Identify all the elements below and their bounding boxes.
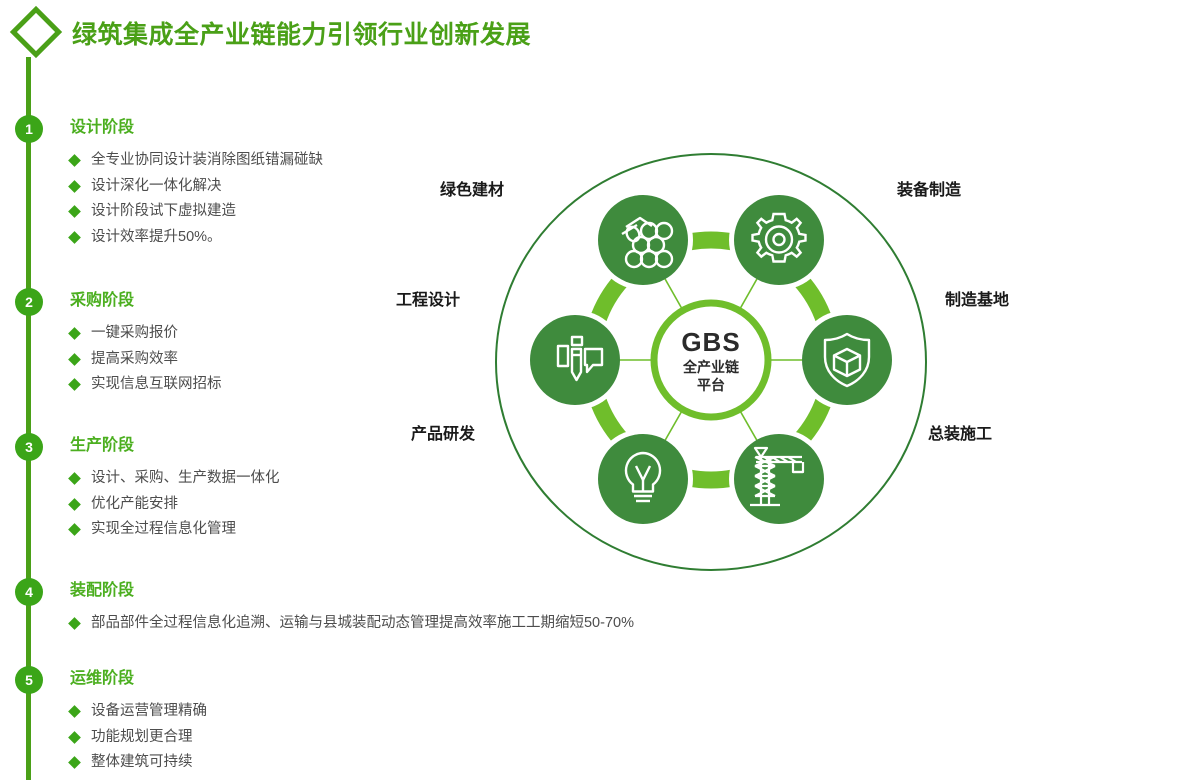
node-circle <box>734 434 824 524</box>
bullet-diamond-icon <box>68 705 81 718</box>
hub-node-manufacturing-base[interactable] <box>802 315 892 405</box>
step-items-2: 一键采购报价 提高采购效率 实现信息互联网招标 <box>70 325 222 393</box>
list-item: 整体建筑可持续 <box>70 754 207 771</box>
bullet-diamond-icon <box>68 205 81 218</box>
list-item-text: 设计效率提升50%。 <box>91 229 222 246</box>
list-item-text: 一键采购报价 <box>91 325 178 342</box>
list-item: 优化产能安排 <box>70 496 280 513</box>
list-item-text: 设计深化一体化解决 <box>91 178 222 195</box>
step-body-4: 装配阶段 部品部件全过程信息化追溯、运输与县城装配动态管理提高效率施工工期缩短5… <box>70 583 634 641</box>
step-items-5: 设备运营管理精确 功能规划更合理 整体建筑可持续 <box>70 703 207 771</box>
list-item-text: 全专业协同设计装消除图纸错漏碰缺 <box>91 152 323 169</box>
list-item: 设计效率提升50%。 <box>70 229 323 246</box>
bullet-diamond-icon <box>68 498 81 511</box>
center-subtitle-line2: 平台 <box>697 377 725 393</box>
list-item-text: 实现全过程信息化管理 <box>91 521 236 538</box>
list-item: 部品部件全过程信息化追溯、运输与县城装配动态管理提高效率施工工期缩短50-70% <box>70 615 634 632</box>
step-body-2: 采购阶段 一键采购报价 提高采购效率 实现信息互联网招标 <box>70 293 222 402</box>
list-item-text: 设计阶段试下虚拟建造 <box>91 203 236 220</box>
step-body-1: 设计阶段 全专业协同设计装消除图纸错漏碰缺 设计深化一体化解决 设计阶段试下虚拟… <box>70 120 323 255</box>
list-item-text: 设计、采购、生产数据一体化 <box>91 470 280 487</box>
list-item-text: 部品部件全过程信息化追溯、运输与县城装配动态管理提高效率施工工期缩短50-70% <box>91 615 634 632</box>
center-subtitle-line1: 全产业链 <box>682 359 740 375</box>
list-item: 提高采购效率 <box>70 351 222 368</box>
hub-diagram: 绿色建材 装备制造 工程设计 制造基地 产品研发 总装施工 <box>400 150 1040 580</box>
list-item: 设计、采购、生产数据一体化 <box>70 470 280 487</box>
bullet-diamond-icon <box>68 472 81 485</box>
step-title-3: 生产阶段 <box>70 438 280 454</box>
step-marker-2[interactable]: 2 <box>15 288 43 316</box>
step-body-5: 运维阶段 设备运营管理精确 功能规划更合理 整体建筑可持续 <box>70 671 207 780</box>
list-item-text: 设备运营管理精确 <box>91 703 207 720</box>
bullet-diamond-icon <box>68 523 81 536</box>
step-body-3: 生产阶段 设计、采购、生产数据一体化 优化产能安排 实现全过程信息化管理 <box>70 438 280 547</box>
bullet-diamond-icon <box>68 353 81 366</box>
node-circle <box>598 195 688 285</box>
bullet-diamond-icon <box>68 180 81 193</box>
list-item: 一键采购报价 <box>70 325 222 342</box>
bullet-diamond-icon <box>68 378 81 391</box>
hub-node-product-rnd[interactable] <box>598 434 688 524</box>
step-items-3: 设计、采购、生产数据一体化 优化产能安排 实现全过程信息化管理 <box>70 470 280 538</box>
list-item: 全专业协同设计装消除图纸错漏碰缺 <box>70 152 323 169</box>
list-item-text: 功能规划更合理 <box>91 729 193 746</box>
step-title-5: 运维阶段 <box>70 671 207 687</box>
page-title: 绿筑集成全产业链能力引领行业创新发展 <box>72 15 531 51</box>
hub-node-assembly-construction[interactable] <box>734 434 824 524</box>
bullet-diamond-icon <box>68 327 81 340</box>
bullet-diamond-icon <box>68 756 81 769</box>
list-item: 设备运营管理精确 <box>70 703 207 720</box>
list-item: 实现全过程信息化管理 <box>70 521 280 538</box>
step-title-2: 采购阶段 <box>70 293 222 309</box>
list-item-text: 实现信息互联网招标 <box>91 376 222 393</box>
step-marker-4[interactable]: 4 <box>15 578 43 606</box>
list-item: 实现信息互联网招标 <box>70 376 222 393</box>
hub-node-equipment-manufacturing[interactable] <box>734 195 824 285</box>
step-marker-3[interactable]: 3 <box>15 433 43 461</box>
node-circle <box>734 195 824 285</box>
step-title-1: 设计阶段 <box>70 120 323 136</box>
bullet-diamond-icon <box>68 154 81 167</box>
step-marker-1[interactable]: 1 <box>15 115 43 143</box>
list-item: 功能规划更合理 <box>70 729 207 746</box>
node-circle <box>802 315 892 405</box>
list-item-text: 提高采购效率 <box>91 351 178 368</box>
center-gbs-title: GBS <box>681 327 740 357</box>
bullet-diamond-icon <box>68 231 81 244</box>
step-items-4: 部品部件全过程信息化追溯、运输与县城装配动态管理提高效率施工工期缩短50-70% <box>70 615 634 632</box>
hub-node-engineering-design[interactable] <box>530 315 620 405</box>
bullet-diamond-icon <box>68 731 81 744</box>
step-title-4: 装配阶段 <box>70 583 634 599</box>
bullet-diamond-icon <box>68 617 81 630</box>
list-item-text: 整体建筑可持续 <box>91 754 193 771</box>
list-item: 设计深化一体化解决 <box>70 178 323 195</box>
node-circle <box>530 315 620 405</box>
list-item: 设计阶段试下虚拟建造 <box>70 203 323 220</box>
step-marker-5[interactable]: 5 <box>15 666 43 694</box>
hub-node-green-materials[interactable] <box>598 195 688 285</box>
diamond-logo-icon <box>9 5 63 59</box>
step-items-1: 全专业协同设计装消除图纸错漏碰缺 设计深化一体化解决 设计阶段试下虚拟建造 设计… <box>70 152 323 246</box>
list-item-text: 优化产能安排 <box>91 496 178 513</box>
